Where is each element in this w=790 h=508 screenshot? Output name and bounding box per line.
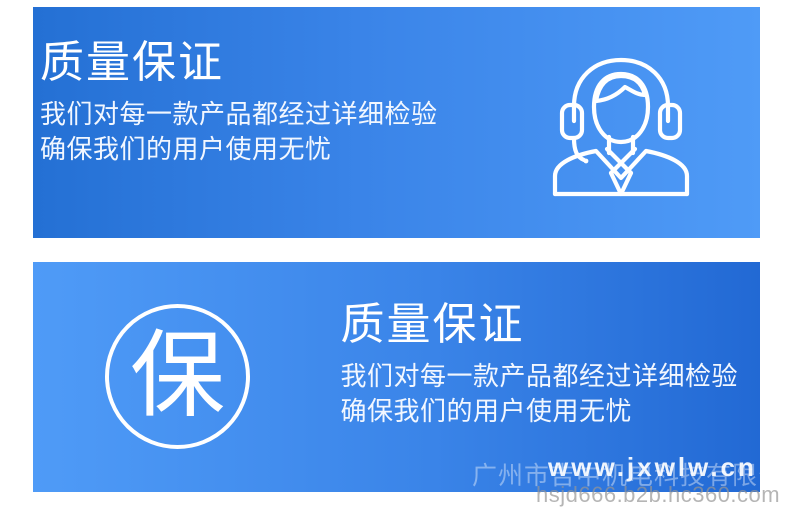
banner-bottom-subline-line-2: 确保我们的用户使用无忧 bbox=[340, 394, 738, 429]
banner-bottom-headline: 质量保证 bbox=[340, 300, 738, 349]
watermark-site: hsjd666.b2b.hc360.com bbox=[536, 482, 780, 508]
banner-top-subline: 我们对每一款产品都经过详细检验 确保我们的用户使用无忧 bbox=[40, 97, 438, 167]
banner-bottom-text-block: 质量保证 我们对每一款产品都经过详细检验 确保我们的用户使用无忧 bbox=[340, 300, 738, 429]
banner-top-subline-line-2: 确保我们的用户使用无忧 bbox=[40, 132, 438, 167]
seal-character: 保 bbox=[105, 304, 250, 449]
watermark-url: www.jxwlw.cn bbox=[548, 452, 757, 483]
banner-top-subline-line-1: 我们对每一款产品都经过详细检验 bbox=[40, 97, 438, 132]
banner-top-text-block: 质量保证 我们对每一款产品都经过详细检验 确保我们的用户使用无忧 bbox=[40, 38, 438, 167]
banner-bottom-subline: 我们对每一款产品都经过详细检验 确保我们的用户使用无忧 bbox=[340, 359, 738, 429]
banner-top-headline: 质量保证 bbox=[40, 38, 438, 87]
headset-agent-icon bbox=[541, 45, 701, 205]
banner-bottom-subline-line-1: 我们对每一款产品都经过详细检验 bbox=[340, 359, 738, 394]
page-canvas: 质量保证 我们对每一款产品都经过详细检验 确保我们的用户使用无忧 bbox=[0, 0, 790, 507]
banner-quality-guarantee-top: 质量保证 我们对每一款产品都经过详细检验 确保我们的用户使用无忧 bbox=[33, 7, 760, 238]
circle-seal-icon: 保 bbox=[105, 304, 260, 459]
